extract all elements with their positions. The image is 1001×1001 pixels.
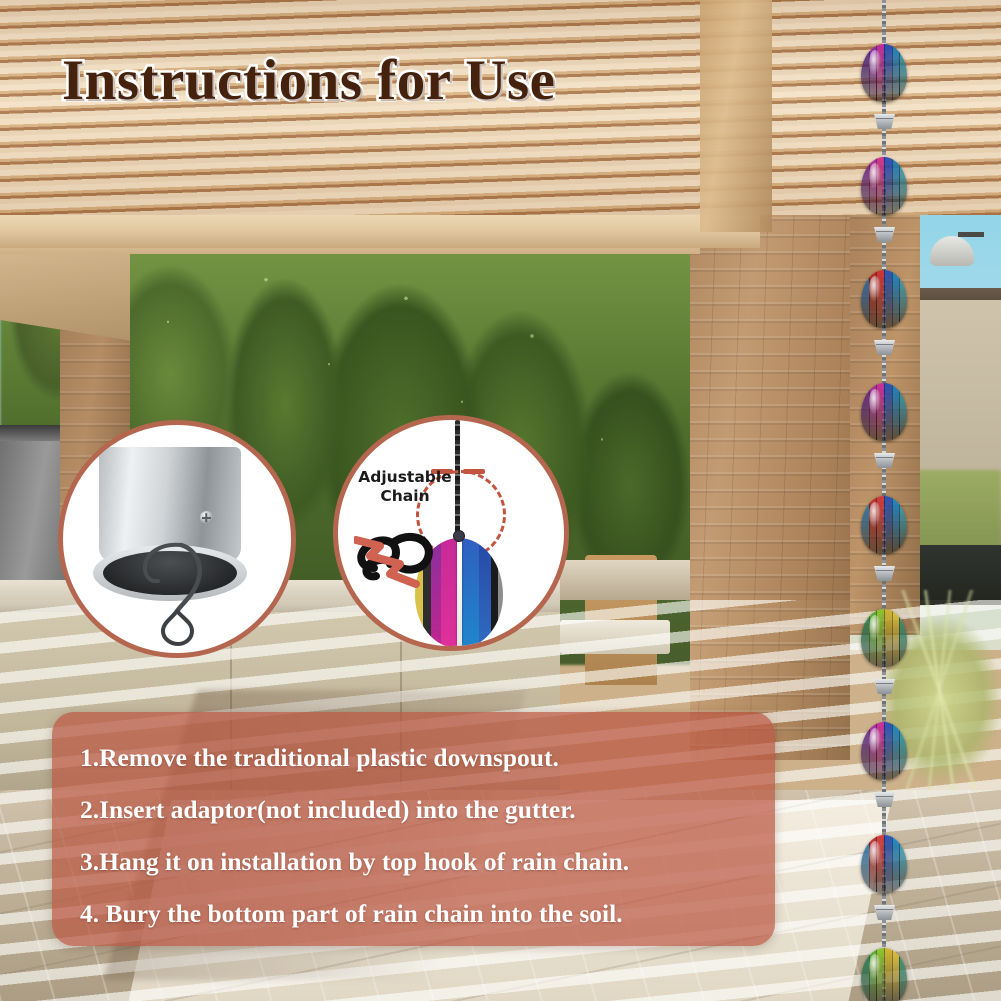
- s-hook-icon: [63, 425, 296, 658]
- chain-cup: [874, 227, 895, 242]
- chain-ornament: [861, 722, 907, 780]
- instruction-step: 2.Insert adaptor(not included) into the …: [80, 795, 576, 825]
- instruction-step: 3.Hang it on installation by top hook of…: [80, 847, 629, 877]
- instruction-step: 4. Bury the bottom part of rain chain in…: [80, 899, 623, 929]
- chain-ornament: [861, 496, 907, 554]
- chain-ornament: [861, 609, 907, 667]
- chain-cup: [874, 679, 895, 694]
- instructions-panel: 1.Remove the traditional plastic downspo…: [52, 712, 775, 946]
- chain-ornament: [861, 383, 907, 441]
- instruction-step: 1.Remove the traditional plastic downspo…: [80, 743, 559, 773]
- chain-cup: [874, 114, 895, 129]
- chain-ornament: [861, 157, 907, 215]
- product-instruction-image: Instructions for Use: [0, 0, 1001, 1001]
- chain-cup: [874, 792, 895, 807]
- page-title: Instructions for Use: [62, 48, 555, 113]
- adjustable-chain-label: Adjustable Chain: [346, 468, 464, 506]
- chain-cup: [874, 905, 895, 920]
- chain-ornament: [861, 835, 907, 893]
- ornament-top-cap: [453, 530, 465, 542]
- pergola-beam-post: [700, 0, 772, 232]
- inset-downspout-adaptor: [58, 420, 296, 658]
- chain-cup: [874, 453, 895, 468]
- chain-ornament: [861, 948, 907, 1001]
- chain-cup: [874, 340, 895, 355]
- wall-lamp-arm: [958, 232, 984, 237]
- chain-ornament: [861, 44, 907, 102]
- highlight-tick: [463, 469, 485, 474]
- chain-cup: [874, 566, 895, 581]
- chain-ornament: [861, 270, 907, 328]
- chain-link-icon: [354, 516, 454, 592]
- inset-adjustable-chain: Adjustable Chain: [333, 415, 569, 651]
- rain-chain-product: [862, 0, 906, 1001]
